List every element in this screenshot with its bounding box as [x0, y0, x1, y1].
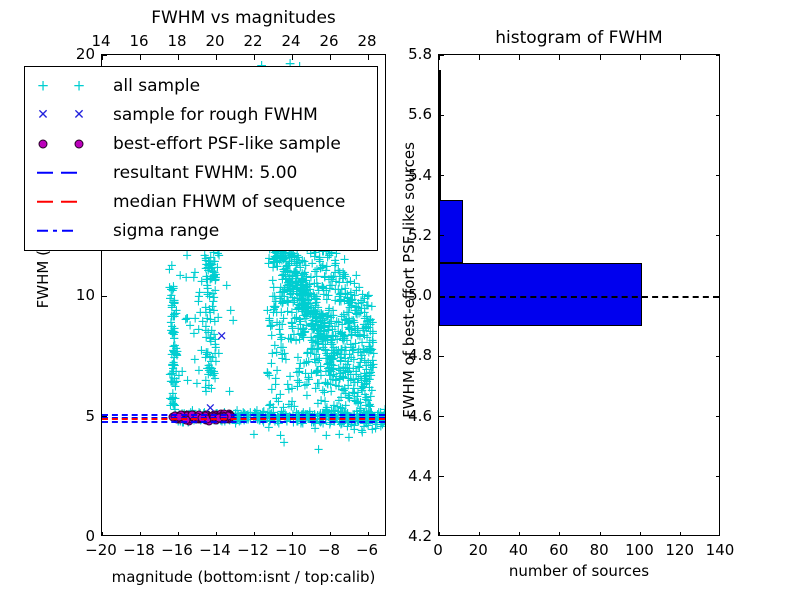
right-ytick: 5.6: [390, 105, 432, 123]
tickmark: [254, 532, 255, 535]
legend-item[interactable]: best-effort PSF-like sample: [25, 129, 377, 158]
tickmark: [716, 55, 719, 56]
left-xtick-bottom: −12: [237, 541, 269, 559]
tickmark: [292, 532, 293, 535]
tickmark: [178, 532, 179, 535]
legend-item-label: median FHWM of sequence: [113, 192, 345, 212]
dashdot-line-icon: [37, 229, 48, 232]
tickmark: [439, 115, 444, 116]
plus-icon: +: [37, 78, 50, 93]
right-ytick: 4.4: [390, 467, 432, 485]
tickmark: [330, 532, 331, 535]
tickmark: [680, 532, 681, 535]
tickmark: [102, 55, 107, 56]
tickmark: [640, 532, 641, 535]
dashed-line-icon: [61, 200, 77, 203]
left-xtick-top: 18: [167, 32, 186, 50]
tickmark: [102, 55, 103, 60]
legend-item-label: resultant FWHM: 5.00: [113, 163, 297, 183]
circle-icon: [39, 139, 48, 148]
left-xtick-top: 16: [129, 32, 148, 50]
right-xtick: 140: [706, 541, 735, 559]
tickmark: [439, 235, 444, 236]
right-plot-title: histogram of FWHM: [438, 28, 720, 48]
dashed-line-icon: [61, 171, 77, 174]
legend[interactable]: ++all sample✕✕sample for rough FWHMbest-…: [24, 66, 378, 251]
tickmark: [439, 532, 440, 535]
tickmark: [600, 55, 601, 60]
right-xtick: 40: [509, 541, 528, 559]
tickmark: [519, 55, 520, 60]
tickmark: [140, 532, 141, 535]
plus-icon: +: [73, 78, 86, 93]
legend-item[interactable]: median FHWM of sequence: [25, 187, 377, 216]
right-xtick: 0: [433, 541, 443, 559]
tickmark: [716, 476, 719, 477]
left-ytick: 5: [55, 407, 95, 425]
left-xtick-top: 26: [319, 32, 338, 50]
cross-icon: ✕: [73, 108, 85, 122]
tickmark: [140, 55, 141, 60]
left-xtick-top: 24: [281, 32, 300, 50]
tickmark: [439, 175, 444, 176]
tickmark: [716, 296, 719, 297]
tickmark: [292, 55, 293, 60]
tickmark: [519, 532, 520, 535]
left-xtick-bottom: −18: [123, 541, 155, 559]
tickmark: [559, 532, 560, 535]
dashed-line-icon: [37, 171, 53, 174]
right-xtick: 100: [625, 541, 654, 559]
left-xtick-bottom: −8: [318, 541, 340, 559]
tickmark: [716, 115, 719, 116]
left-ytick: 20: [55, 45, 95, 63]
left-xtick-top: 20: [205, 32, 224, 50]
legend-item[interactable]: resultant FWHM: 5.00: [25, 158, 377, 187]
tickmark: [640, 55, 641, 60]
tickmark: [216, 55, 217, 60]
figure-canvas: ++++++++++++++++++++++++++++++++++++++++…: [0, 0, 800, 600]
tickmark: [254, 55, 255, 60]
circle-icon: [75, 139, 84, 148]
legend-item-label: sigma range: [113, 221, 219, 241]
tickmark: [368, 55, 369, 60]
tickmark: [439, 55, 440, 60]
legend-item-label: sample for rough FWHM: [113, 105, 318, 125]
tickmark: [439, 416, 444, 417]
right-ytick: 5.0: [390, 286, 432, 304]
legend-item[interactable]: ++all sample: [25, 71, 377, 100]
left-xtick-top: 28: [357, 32, 376, 50]
right-ytick: 4.6: [390, 407, 432, 425]
left-ytick: 0: [55, 527, 95, 545]
right-ytick: 4.2: [390, 527, 432, 545]
tickmark: [102, 296, 107, 297]
tickmark: [716, 175, 719, 176]
tickmark: [716, 416, 719, 417]
right-ytick: 5.2: [390, 226, 432, 244]
legend-item[interactable]: ✕✕sample for rough FWHM: [25, 100, 377, 129]
left-plot-title: FWHM vs magnitudes: [101, 8, 386, 28]
tickmark: [439, 356, 444, 357]
right-ytick: 5.8: [390, 45, 432, 63]
legend-item-label: best-effort PSF-like sample: [113, 134, 341, 154]
tickmark: [102, 416, 107, 417]
left-xtick-bottom: −16: [161, 541, 193, 559]
tickmark: [102, 532, 103, 535]
dashdot-line-icon: [53, 229, 57, 232]
legend-item-label: all sample: [113, 76, 200, 96]
right-xaxis-label: number of sources: [438, 562, 720, 580]
right-xtick: 20: [469, 541, 488, 559]
left-ytick: 10: [55, 286, 95, 304]
left-xtick-bottom: −10: [275, 541, 307, 559]
left-xaxis-label: magnitude (bottom:isnt / top:calib): [101, 568, 386, 586]
tickmark: [716, 356, 719, 357]
right-xtick: 60: [549, 541, 568, 559]
tickmark: [479, 55, 480, 60]
tickmark: [439, 55, 444, 56]
right-ytick: 5.4: [390, 166, 432, 184]
tickmark: [680, 55, 681, 60]
tickmark: [716, 235, 719, 236]
right-tickmarks-layer: [439, 55, 719, 535]
tickmark: [479, 532, 480, 535]
tickmark: [600, 532, 601, 535]
dashdot-line-icon: [62, 229, 73, 232]
right-ytick: 4.8: [390, 346, 432, 364]
tickmark: [559, 55, 560, 60]
left-xtick-bottom: −14: [199, 541, 231, 559]
right-xtick: 120: [665, 541, 694, 559]
tickmark: [178, 55, 179, 60]
left-xtick-bottom: −6: [356, 541, 378, 559]
tickmark: [439, 296, 444, 297]
left-xtick-top: 22: [243, 32, 262, 50]
cross-icon: ✕: [37, 108, 49, 122]
right-xtick: 80: [590, 541, 609, 559]
right-plot-axes: [438, 54, 720, 536]
dashed-line-icon: [37, 200, 53, 203]
tickmark: [330, 55, 331, 60]
tickmark: [368, 532, 369, 535]
tickmark: [439, 476, 444, 477]
legend-item[interactable]: sigma range: [25, 216, 377, 245]
tickmark: [216, 532, 217, 535]
